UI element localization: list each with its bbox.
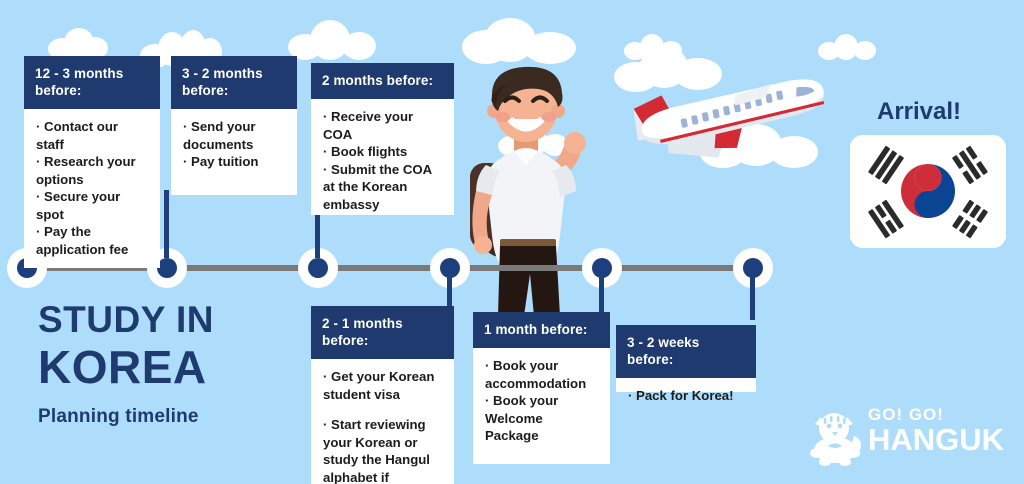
card-item: · Book your Welcome Package	[485, 392, 599, 445]
card-heading: 12 - 3 months before:	[24, 56, 160, 109]
card-item: · Research your options	[36, 153, 149, 188]
card-body: · Send your documents · Pay tuition	[171, 109, 297, 181]
card-heading: 1 month before:	[473, 312, 610, 348]
card-item: · Contact our staff	[36, 118, 149, 153]
title-subtitle: Planning timeline	[38, 406, 308, 428]
arrival-label: Arrival!	[877, 98, 961, 126]
card-item: · Submit the COA at the Korean embassy	[323, 161, 443, 214]
card-item: · Secure your spot	[36, 188, 149, 223]
timeline-card-2-1-months[interactable]: 2 - 1 months before: · Get your Korean s…	[311, 306, 454, 484]
card-body: · Pack for Korea!	[616, 378, 756, 415]
card-item: · Book flights	[323, 143, 443, 161]
timeline-stem-6	[750, 272, 755, 320]
timeline-card-2-months[interactable]: 2 months before: · Receive your COA · Bo…	[311, 63, 454, 215]
card-body: · Book your accommodation · Book your We…	[473, 348, 610, 455]
card-item: · Pay tuition	[183, 153, 286, 171]
brand-logo[interactable]: GO! GO! HANGUK	[806, 404, 1011, 466]
card-heading: 3 - 2 months before:	[171, 56, 297, 109]
card-item: · Start reviewing your Korean or study t…	[323, 416, 443, 484]
card-heading: 2 months before:	[311, 63, 454, 99]
logo-line-2: HANGUK	[868, 424, 1004, 455]
timeline-card-3-2-weeks[interactable]: 3 - 2 weeks before: · Pack for Korea!	[616, 325, 756, 392]
timeline-card-1-month[interactable]: 1 month before: · Book your accommodatio…	[473, 312, 610, 464]
south-korea-flag	[850, 135, 1006, 248]
card-body: · Contact our staff · Research your opti…	[24, 109, 160, 268]
cloud-decoration	[48, 28, 108, 58]
timeline-card-3-2-months[interactable]: 3 - 2 months before: · Send your documen…	[171, 56, 297, 195]
timeline-stem-2	[164, 190, 169, 258]
timeline-stem-5	[599, 272, 604, 312]
cloud-decoration	[474, 36, 518, 56]
title-line-1: STUDY IN	[38, 300, 308, 340]
tiger-mascot-icon	[806, 408, 864, 466]
infographic-canvas: 12 - 3 months before: · Contact our staf…	[0, 0, 1024, 484]
airplane-illustration	[618, 52, 848, 172]
cloud-decoration	[288, 20, 378, 60]
card-body: · Get your Korean student visa · Start r…	[311, 359, 454, 484]
title-line-2: KOREA	[38, 342, 308, 392]
page-title: STUDY IN KOREA Planning timeline	[38, 300, 308, 428]
card-item: · Pack for Korea!	[628, 387, 745, 405]
card-heading: 2 - 1 months before:	[311, 306, 454, 359]
card-item: · Get your Korean student visa	[323, 368, 443, 403]
card-item: · Receive your COA	[323, 108, 443, 143]
card-body: · Receive your COA · Book flights · Subm…	[311, 99, 454, 223]
timeline-card-12-3-months[interactable]: 12 - 3 months before: · Contact our staf…	[24, 56, 160, 268]
card-item: · Book your accommodation	[485, 357, 599, 392]
card-item: · Send your documents	[183, 118, 286, 153]
card-item: · Pay the application fee	[36, 223, 149, 258]
card-heading: 3 - 2 weeks before:	[616, 325, 756, 378]
logo-wordmark: GO! GO! HANGUK	[868, 406, 1004, 455]
